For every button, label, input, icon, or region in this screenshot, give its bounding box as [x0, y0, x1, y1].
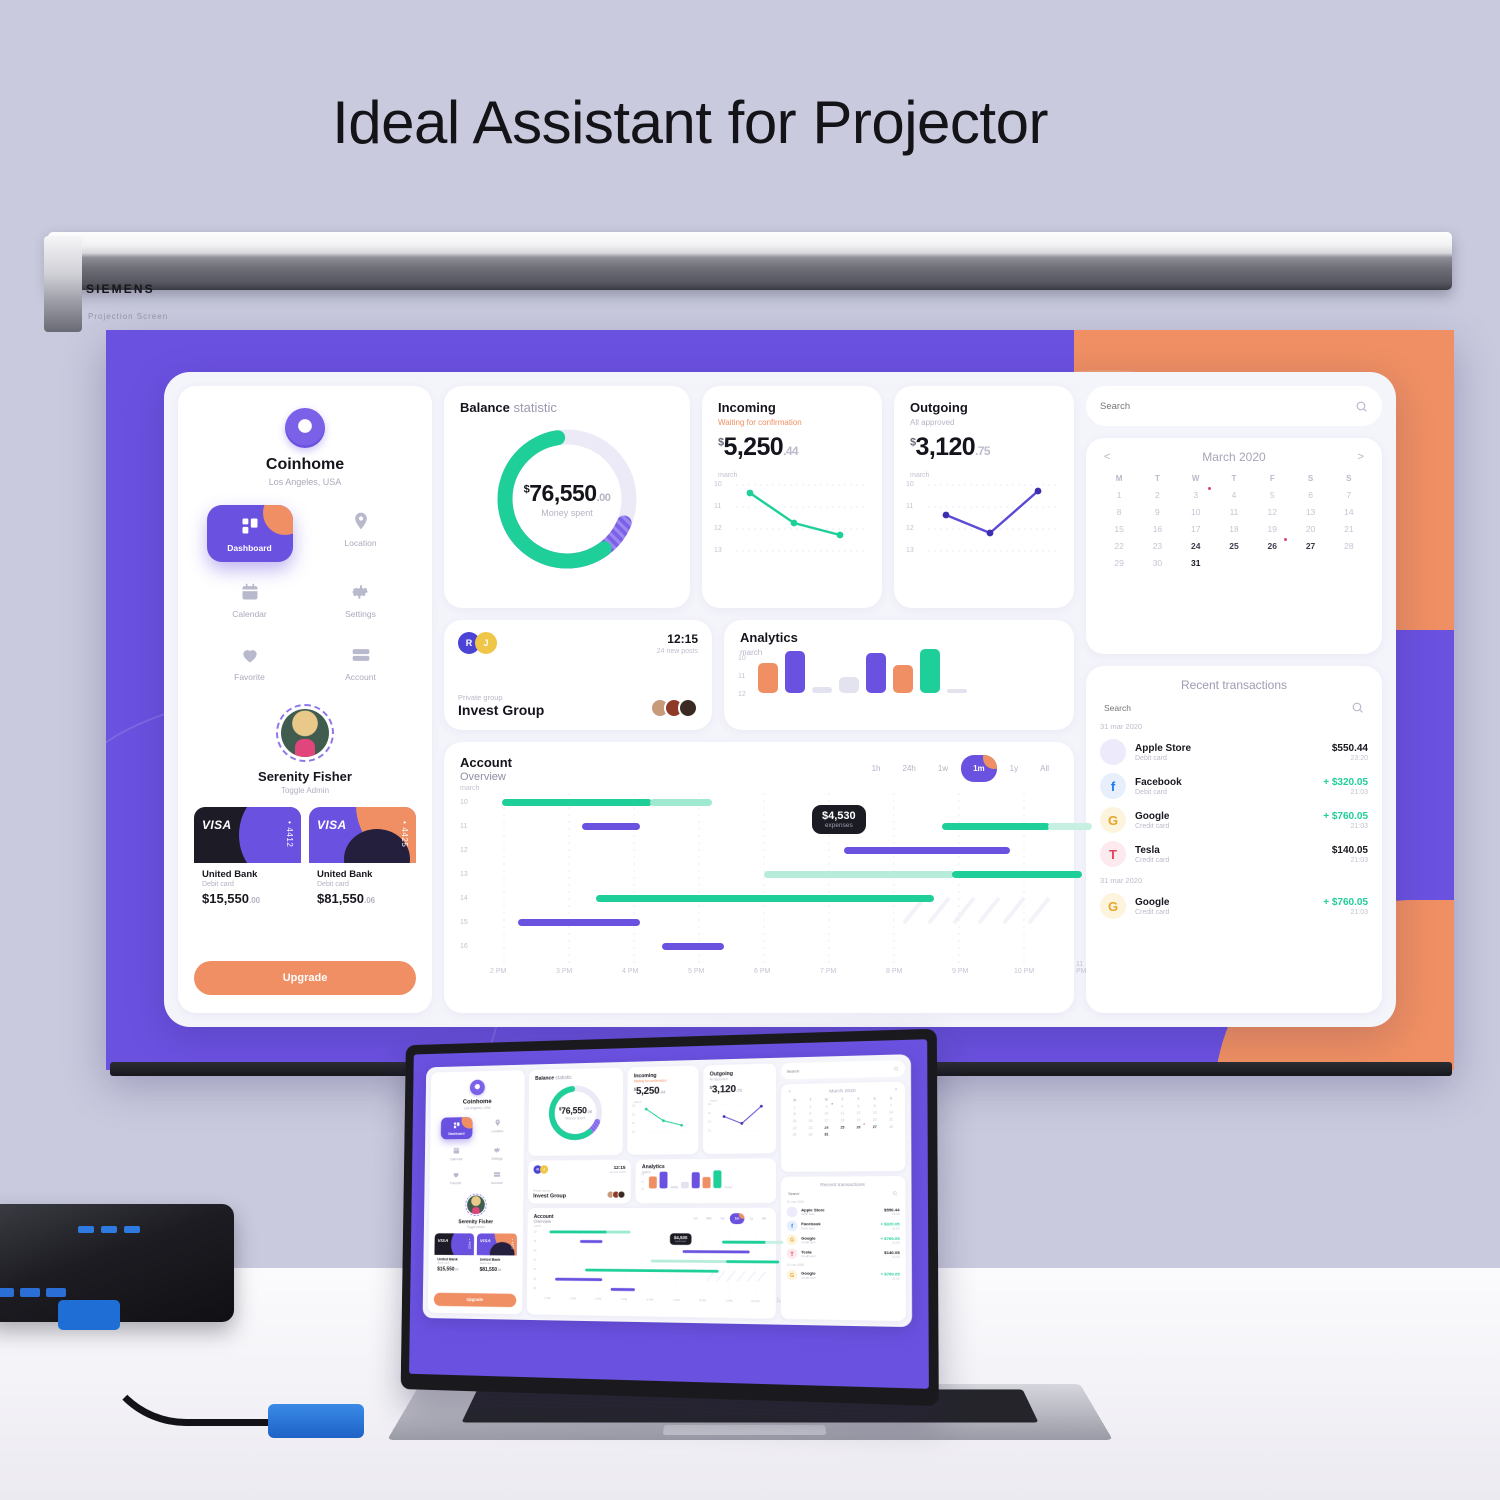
range-1m[interactable]: 1m — [961, 755, 997, 782]
bank-card-2[interactable]: VISA • 4425 United Bank Debit card $81,5… — [477, 1233, 517, 1271]
transaction-row[interactable]: fFacebookDebit card+ $320.0521:03 — [787, 1219, 900, 1233]
brand-name: Coinhome — [194, 456, 416, 474]
account-timeline-chart: march 10 11 12 13 14 15 16 — [444, 783, 1074, 979]
calendar-weekday-4: F — [850, 1097, 866, 1101]
transaction-time: 23:20 — [884, 1213, 899, 1216]
incoming-title: Incoming — [702, 386, 882, 415]
card-type-2: Debit card — [317, 881, 408, 888]
search-input[interactable] — [1100, 401, 1355, 412]
calendar-day-2[interactable]: 2 — [803, 1105, 819, 1109]
search-icon — [892, 1191, 898, 1196]
calendar-weekday-3: T — [834, 1098, 850, 1102]
calendar-day-5[interactable]: 5 — [850, 1104, 866, 1108]
grid-icon — [240, 516, 260, 536]
sidebar-item-dashboard[interactable]: Dashboard — [207, 505, 293, 562]
projector-button-1[interactable] — [78, 1226, 94, 1233]
analytics-bar-8 — [947, 689, 967, 693]
calendar-day-12[interactable]: 12 — [1253, 507, 1291, 517]
calendar-day-4[interactable]: 4 — [834, 1104, 850, 1108]
transaction-amount: $550.44 — [1332, 743, 1368, 754]
vga-connector-laptop-end — [268, 1404, 364, 1438]
card-last4-2: • 4425 — [511, 1239, 514, 1249]
balance-statistic-card: Balance statistic — [528, 1067, 623, 1155]
calendar-weekday-4: F — [1253, 474, 1291, 483]
card-amount-1: $15,550.00 — [437, 1266, 471, 1272]
incoming-card: Incoming Waiting for confirmation $5,250… — [702, 386, 882, 608]
transaction-row[interactable]: Apple StoreDebit card$550.4423:20 — [787, 1205, 900, 1219]
transaction-name: Apple Store — [1135, 743, 1323, 754]
grid-icon — [453, 1121, 460, 1129]
incoming-ytick-1: 11 — [632, 1113, 635, 1116]
calendar-day-13[interactable]: 13 — [1291, 507, 1329, 517]
calendar-day-16[interactable]: 16 — [1138, 524, 1176, 534]
calendar-day-23[interactable]: 23 — [1138, 541, 1176, 551]
sidebar-nav: Dashboard Location Calendar Settings Fav… — [435, 1116, 518, 1187]
transaction-amount: $140.05 — [884, 1250, 900, 1255]
calendar-weekday-1: T — [803, 1098, 819, 1102]
acct-xtick-7: 9 PM — [726, 1300, 733, 1303]
sidebar-nav: Dashboard Location Calendar Settings Fav… — [194, 505, 416, 688]
card-amount-2: $81,550.06 — [317, 891, 408, 905]
screen-model-label: Projection Screen — [88, 312, 168, 321]
calendar-day-31[interactable]: 31 — [818, 1132, 834, 1136]
sidebar-item-settings[interactable]: Settings — [318, 576, 404, 625]
sidebar-label-settings: Settings — [481, 1157, 513, 1161]
calendar-day-22[interactable]: 22 — [787, 1126, 803, 1130]
sidebar-item-location[interactable]: Location — [318, 505, 404, 562]
calendar-day-25[interactable]: 25 — [834, 1125, 850, 1129]
acct-xtick-0: 2 PM — [544, 1297, 550, 1300]
siemens-logo: SIEMENS — [86, 282, 155, 296]
calendar-day-30[interactable]: 30 — [1138, 558, 1176, 568]
upgrade-button[interactable]: Upgrade — [194, 961, 416, 995]
acct-xtick-3: 5 PM — [688, 968, 704, 975]
sidebar-item-location[interactable]: Location — [481, 1116, 513, 1139]
transaction-row[interactable]: TTeslaCredit card$140.0521:03 — [787, 1247, 900, 1262]
calendar-day-7[interactable]: 7 — [883, 1103, 899, 1107]
outgoing-ytick-3: 13 — [708, 1130, 711, 1133]
calendar-day-31[interactable]: 31 — [1177, 558, 1215, 568]
calendar-weekday-2: W — [818, 1098, 834, 1102]
calendar-month-label: March 2020 — [829, 1088, 856, 1094]
card-info-2: United Bank Debit card $81,550.06 — [309, 863, 416, 905]
transaction-row[interactable]: GGoogleCredit card+ $760.0521:03 — [787, 1233, 900, 1248]
calendar-day-24[interactable]: 24 — [818, 1125, 834, 1129]
analytics-bar-3 — [670, 1186, 678, 1188]
incoming-line-chart: 10 11 12 13 — [627, 1103, 698, 1142]
calendar-day-25[interactable]: 25 — [1215, 541, 1253, 551]
acct-xtick-4: 6 PM — [647, 1298, 653, 1301]
bank-card-2[interactable]: VISA • 4425 United Bank Debit card $81,5… — [309, 807, 416, 905]
calendar-day-28[interactable]: 28 — [1330, 541, 1368, 551]
calendar-day-12[interactable]: 12 — [850, 1111, 866, 1115]
calendar-day-27[interactable]: 27 — [867, 1124, 883, 1128]
calendar-icon — [452, 1147, 459, 1155]
range-1h[interactable]: 1h — [863, 758, 890, 779]
projection-screen-roller — [48, 232, 1452, 290]
acct-ytick-1: 11 — [460, 823, 467, 830]
calendar-day-11[interactable]: 11 — [1215, 507, 1253, 517]
coinhome-logo-icon — [470, 1080, 485, 1096]
calendar-day-28[interactable]: 28 — [883, 1124, 899, 1128]
hdmi-port-3 — [46, 1288, 66, 1297]
balance-label: Money spent — [566, 1116, 586, 1120]
expense-tooltip: $4,530 expenses — [670, 1233, 691, 1245]
calendar-weekday-2: W — [1177, 474, 1215, 483]
transactions-search-input[interactable] — [788, 1191, 892, 1196]
acct-ytick-0: 10 — [460, 799, 468, 806]
transaction-card-type: Credit card — [801, 1276, 877, 1280]
calendar-prev-button[interactable]: < — [787, 1089, 793, 1094]
analytics-bar-6 — [893, 665, 913, 693]
sidebar: Coinhome Los Angeles, USA Dashboard Loca… — [428, 1070, 525, 1314]
acct-ytick-0: 10 — [534, 1230, 537, 1233]
timeline-bar-r12-purple — [844, 847, 1010, 854]
projector-button-3[interactable] — [124, 1226, 140, 1233]
calendar-weekday-0: M — [787, 1098, 803, 1102]
sidebar-label-location: Location — [481, 1129, 513, 1133]
calendar-day-26[interactable]: 26 — [1253, 541, 1291, 551]
heart-icon — [240, 645, 260, 665]
calendar-day-6[interactable]: 6 — [867, 1103, 883, 1107]
calendar-day-2[interactable]: 2 — [1138, 490, 1176, 500]
calendar-next-button[interactable]: > — [893, 1087, 899, 1092]
acct-ytick-5: 15 — [460, 919, 468, 926]
calendar-day-10[interactable]: 10 — [818, 1111, 834, 1115]
timeline-bar-r11-purple — [582, 823, 640, 830]
transactions-search[interactable] — [1100, 701, 1368, 714]
transaction-row[interactable]: fFacebookDebit card+ $320.0521:03 — [1100, 769, 1368, 803]
dashboard-app: Coinhome Los Angeles, USA Dashboard Loca… — [164, 372, 1396, 1027]
acct-ytick-2: 12 — [460, 847, 468, 854]
sidebar-label-dashboard: Dashboard — [441, 1132, 473, 1136]
sidebar-label-account: Account — [318, 672, 404, 682]
calendar-day-18[interactable]: 18 — [1215, 524, 1253, 534]
group-name: Invest Group — [458, 702, 544, 718]
calendar-next-button[interactable]: > — [1354, 451, 1368, 463]
range-24h[interactable]: 24h — [703, 1214, 716, 1222]
avatar — [467, 1195, 485, 1214]
acct-xtick-4: 6 PM — [754, 968, 770, 975]
card-art-2: VISA • 4425 — [309, 807, 416, 863]
expense-tooltip: $4,530 expenses — [812, 805, 866, 834]
range-all[interactable]: All — [1031, 758, 1058, 779]
analytics-ytick-0: 10 — [641, 1173, 644, 1176]
sidebar-label-calendar: Calendar — [207, 609, 293, 619]
outgoing-subtitle: All approved — [894, 415, 1074, 427]
calendar-day-5[interactable]: 5 — [1253, 490, 1291, 500]
group-pretitle: Private group — [458, 693, 544, 702]
transaction-name: Google — [1135, 811, 1314, 822]
card-info-1: United Bank Debit card $15,550.00 — [434, 1255, 474, 1272]
calendar-day-26[interactable]: 26 — [850, 1125, 866, 1129]
gear-icon — [351, 582, 371, 602]
invest-group-card[interactable]: R J 12:15 24 new posts Private group Inv… — [444, 620, 712, 730]
outgoing-card: Outgoing All approved $3,120.75 march 10… — [703, 1063, 776, 1154]
calendar-day-30[interactable]: 30 — [803, 1132, 819, 1136]
analytics-bar-chart: 10 11 12 — [724, 657, 1074, 703]
incoming-amount: $5,250.44 — [702, 427, 882, 462]
balance-donut-chart: $76,550.00 Money spent — [528, 1079, 623, 1146]
acct-ytick-6: 16 — [460, 943, 468, 950]
recent-transactions-card: Recent transactions 31 mar 2020Apple Sto… — [1086, 666, 1382, 1013]
calendar-widget: < March 2020 > MTWTFSS123456789101112131… — [781, 1082, 905, 1172]
invest-group-card[interactable]: R J 12:15 24 new posts Private group Inv… — [528, 1160, 631, 1204]
sidebar-item-calendar[interactable]: Calendar — [207, 576, 293, 625]
transaction-row[interactable]: GGoogleCredit card+ $760.0521:03 — [1100, 803, 1368, 837]
bank-cards: VISA • 4412 United Bank Debit card $15,5… — [434, 1233, 517, 1272]
projector-button-2[interactable] — [101, 1226, 117, 1233]
transaction-amount: + $760.05 — [880, 1236, 899, 1241]
calendar-day-14[interactable]: 14 — [883, 1110, 899, 1114]
transaction-row[interactable]: Apple StoreDebit card$550.4423:20 — [1100, 735, 1368, 769]
calendar-day-24[interactable]: 24 — [1177, 541, 1215, 551]
sidebar-label-favorite: Favorite — [207, 672, 293, 682]
sidebar-item-settings[interactable]: Settings — [481, 1144, 513, 1163]
calendar-day-9[interactable]: 9 — [1138, 507, 1176, 517]
range-1m[interactable]: 1m — [730, 1213, 744, 1224]
pin-icon — [351, 511, 371, 531]
calendar-day-8[interactable]: 8 — [787, 1112, 803, 1116]
calendar-day-3[interactable]: 3 — [1177, 490, 1215, 500]
laptop-trackpad[interactable] — [663, 1425, 827, 1435]
balance-title: Balance statistic — [444, 386, 690, 415]
incoming-amount: $5,250.44 — [628, 1082, 699, 1097]
analytics-bar-2 — [785, 651, 805, 693]
calendar-day-7[interactable]: 7 — [1330, 490, 1368, 500]
calendar-day-21[interactable]: 21 — [1330, 524, 1368, 534]
transactions-title: Recent transactions — [787, 1181, 900, 1187]
bank-cards: VISA • 4412 United Bank Debit card $15,5… — [194, 807, 416, 905]
account-title: AccountOverview — [534, 1213, 554, 1224]
laptop-display: Coinhome Los Angeles, USA Dashboard Loca… — [401, 1029, 939, 1407]
outgoing-ytick-3: 13 — [906, 547, 914, 554]
outgoing-ytick-2: 12 — [906, 525, 914, 532]
card-last4-2: • 4425 — [400, 821, 409, 847]
bank-card-1[interactable]: VISA • 4412 United Bank Debit card $15,5… — [194, 807, 301, 905]
analytics-bar-7 — [713, 1170, 721, 1188]
range-1h[interactable]: 1h — [690, 1214, 701, 1222]
group-note: 24 new posts — [657, 648, 698, 655]
calendar-day-29[interactable]: 29 — [1100, 558, 1138, 568]
incoming-ytick-0: 10 — [714, 481, 722, 488]
incoming-ytick-3: 13 — [714, 547, 722, 554]
acct-ytick-2: 12 — [533, 1249, 536, 1252]
pin-icon — [494, 1119, 502, 1127]
transactions-search-input[interactable] — [1104, 703, 1351, 713]
laptop-dashboard-mirror: Coinhome Los Angeles, USA Dashboard Loca… — [423, 1054, 912, 1327]
transaction-name: Facebook — [801, 1222, 876, 1227]
calendar-widget: < March 2020 > MTWTFSS123456789101112131… — [1086, 438, 1382, 654]
acct-xtick-8: 10 PM — [1014, 968, 1034, 975]
balance-amount: $76,550.00 — [524, 480, 611, 507]
calendar-day-4[interactable]: 4 — [1215, 490, 1253, 500]
calendar-day-15[interactable]: 15 — [1100, 524, 1138, 534]
calendar-weekday-5: S — [867, 1097, 883, 1101]
group-member-faces — [656, 698, 698, 718]
upgrade-button[interactable]: Upgrade — [434, 1293, 517, 1307]
analytics-bar-2 — [660, 1172, 668, 1189]
transaction-card-type: Credit card — [1135, 823, 1314, 830]
calendar-day-23[interactable]: 23 — [803, 1125, 819, 1129]
card-art-2: VISA • 4425 — [477, 1233, 517, 1255]
acct-xtick-6: 8 PM — [886, 968, 902, 975]
sidebar-label-favorite: Favorite — [440, 1181, 472, 1185]
account-title: AccountOverview — [460, 755, 512, 783]
incoming-ytick-2: 12 — [632, 1122, 635, 1125]
card-bank-1: United Bank — [202, 869, 293, 880]
transaction-time: 21:03 — [1332, 857, 1368, 864]
calendar-day-8[interactable]: 8 — [1100, 507, 1138, 517]
calendar-day-3[interactable]: 3 — [818, 1104, 834, 1108]
group-initial-j: J — [540, 1165, 548, 1174]
calendar-day-1[interactable]: 1 — [1100, 490, 1138, 500]
calendar-weekday-5: S — [1291, 474, 1329, 483]
laptop-mirrored-dashboard: Coinhome Los Angeles, USA Dashboard Loca… — [409, 1039, 929, 1389]
calendar-day-20[interactable]: 20 — [867, 1117, 883, 1121]
calendar-day-15[interactable]: 15 — [787, 1119, 803, 1123]
bank-card-1[interactable]: VISA • 4412 United Bank Debit card $15,5… — [434, 1233, 474, 1271]
acct-xtick-6: 8 PM — [699, 1299, 706, 1302]
projector-ports — [0, 1288, 66, 1297]
search-icon — [1351, 701, 1364, 714]
calendar-day-11[interactable]: 11 — [834, 1111, 850, 1115]
acct-xtick-8: 10 PM — [751, 1300, 759, 1303]
calendar-day-21[interactable]: 21 — [883, 1117, 899, 1121]
analytics-card: Analytics march 10 11 12 — [724, 620, 1074, 730]
card-amount-1: $15,550.00 — [202, 891, 293, 905]
card-last4-1: • 4412 — [468, 1239, 471, 1249]
apple-icon — [1100, 739, 1126, 765]
group-note: 24 new posts — [609, 1171, 625, 1174]
range-1w[interactable]: 1w — [929, 758, 957, 779]
analytics-bar-chart: 10 11 12 — [636, 1173, 776, 1192]
calendar-day-9[interactable]: 9 — [803, 1112, 819, 1116]
range-1w[interactable]: 1w — [717, 1214, 728, 1223]
calendar-weekday-3: T — [1215, 474, 1253, 483]
timeline-bar-r14-green — [596, 895, 934, 902]
transactions-search[interactable] — [787, 1191, 900, 1197]
acct-ytick-1: 11 — [533, 1240, 536, 1243]
balance-label: Money spent — [541, 508, 593, 518]
calendar-day-22[interactable]: 22 — [1100, 541, 1138, 551]
brand-location: Los Angeles, USA — [436, 1105, 518, 1110]
analytics-bar-7 — [920, 649, 940, 693]
calendar-day-27[interactable]: 27 — [1291, 541, 1329, 551]
transaction-amount: + $760.05 — [1323, 897, 1368, 908]
calendar-day-16[interactable]: 16 — [803, 1119, 819, 1123]
range-1y[interactable]: 1y — [746, 1214, 757, 1223]
calendar-day-1[interactable]: 1 — [787, 1105, 803, 1109]
projector-control-buttons[interactable] — [78, 1226, 140, 1233]
acct-xtick-2: 4 PM — [622, 968, 638, 975]
outgoing-ytick-0: 10 — [906, 481, 914, 488]
calendar-day-29[interactable]: 29 — [787, 1133, 803, 1137]
range-all[interactable]: All — [758, 1214, 769, 1223]
outgoing-ytick-1: 11 — [708, 1112, 711, 1115]
calendar-day-18[interactable]: 18 — [834, 1118, 850, 1122]
calendar-day-20[interactable]: 20 — [1291, 524, 1329, 534]
time-range-selector: 1h 24h 1w 1m 1y All — [863, 755, 1058, 782]
page-title: Ideal Assistant for Projector — [0, 88, 1500, 157]
outgoing-line-chart: 10 11 12 13 — [703, 1101, 776, 1141]
account-axis-label: march — [460, 785, 479, 792]
analytics-bar-5 — [692, 1172, 700, 1188]
group-analytics-row: R J 12:15 24 new posts Private group Inv… — [444, 620, 1074, 730]
timeline-bar-r14-purple — [518, 919, 640, 926]
outgoing-ytick-1: 11 — [906, 503, 913, 510]
analytics-ytick-1: 11 — [641, 1181, 644, 1184]
calendar-day-10[interactable]: 10 — [1177, 507, 1215, 517]
card-info-1: United Bank Debit card $15,550.00 — [194, 863, 301, 905]
analytics-bar-1 — [649, 1176, 657, 1188]
calendar-weekday-6: S — [1330, 474, 1368, 483]
transaction-card-type: Debit card — [801, 1213, 880, 1216]
analytics-ytick-2: 12 — [738, 691, 746, 698]
range-24h[interactable]: 24h — [894, 758, 925, 779]
acct-xtick-1: 3 PM — [570, 1297, 576, 1300]
calendar-day-19[interactable]: 19 — [850, 1118, 866, 1122]
account-overview-card: AccountOverview 1h 24h 1w 1m 1y All marc… — [444, 742, 1074, 1013]
calendar-day-17[interactable]: 17 — [1177, 524, 1215, 534]
outgoing-line-chart: 10 11 12 13 — [894, 479, 1074, 575]
balance-donut-chart: $76,550.00 Money spent — [444, 415, 690, 583]
balance-statistic-card: Balance statistic — [444, 386, 690, 608]
group-time: 12:15 — [657, 632, 698, 646]
sidebar-item-account[interactable]: Account — [318, 639, 404, 688]
range-1y[interactable]: 1y — [1001, 758, 1027, 779]
timeline-bar-r15-purple — [611, 1288, 635, 1291]
timeline-bar-r10-faded — [606, 1231, 630, 1234]
calendar-day-13[interactable]: 13 — [867, 1110, 883, 1114]
heart-icon — [452, 1171, 459, 1179]
stats-row: Balance statistic — [444, 386, 1074, 608]
transaction-amount: + $320.05 — [1323, 777, 1368, 788]
incoming-card: Incoming Waiting for confirmation $5,250… — [627, 1066, 698, 1155]
timeline-bar-r10-faded — [650, 799, 712, 806]
calendar-day-14[interactable]: 14 — [1330, 507, 1368, 517]
sidebar-item-account[interactable]: Account — [481, 1168, 513, 1187]
calendar-day-19[interactable]: 19 — [1253, 524, 1291, 534]
sidebar-item-calendar[interactable]: Calendar — [440, 1144, 472, 1163]
transaction-amount: + $760.05 — [1323, 811, 1368, 822]
calendar-prev-button[interactable]: < — [1100, 451, 1114, 463]
transaction-time: 21:03 — [881, 1277, 900, 1280]
transaction-row[interactable]: TTeslaCredit card$140.0521:03 — [1100, 837, 1368, 871]
vga-connector-projector-end — [58, 1300, 120, 1330]
profile-name: Serenity Fisher — [194, 769, 416, 784]
sidebar: Coinhome Los Angeles, USA Dashboard Loca… — [178, 386, 432, 1013]
transaction-row[interactable]: GGoogleCredit card+ $760.0521:03 — [787, 1268, 900, 1283]
global-search[interactable] — [781, 1060, 905, 1079]
user-profile[interactable]: Serenity Fisher Toggle Admin — [435, 1193, 518, 1228]
transaction-row[interactable]: GGoogleCredit card+ $760.0521:03 — [1100, 889, 1368, 923]
global-search[interactable] — [1086, 386, 1382, 426]
incoming-ytick-2: 12 — [714, 525, 722, 532]
avatar — [281, 709, 329, 757]
calendar-day-6[interactable]: 6 — [1291, 490, 1329, 500]
sidebar-label-dashboard: Dashboard — [207, 543, 293, 553]
search-input[interactable] — [787, 1066, 894, 1073]
profile-status: Toggle Admin — [194, 786, 416, 795]
incoming-line-chart: 10 11 12 13 — [702, 479, 882, 575]
calendar-day-17[interactable]: 17 — [818, 1118, 834, 1122]
sidebar-item-dashboard[interactable]: Dashboard — [441, 1117, 473, 1139]
user-profile[interactable]: Serenity Fisher Toggle Admin — [194, 704, 416, 795]
sidebar-item-favorite[interactable]: Favorite — [207, 639, 293, 688]
sidebar-item-favorite[interactable]: Favorite — [440, 1169, 472, 1188]
transaction-amount: + $760.05 — [881, 1272, 900, 1277]
